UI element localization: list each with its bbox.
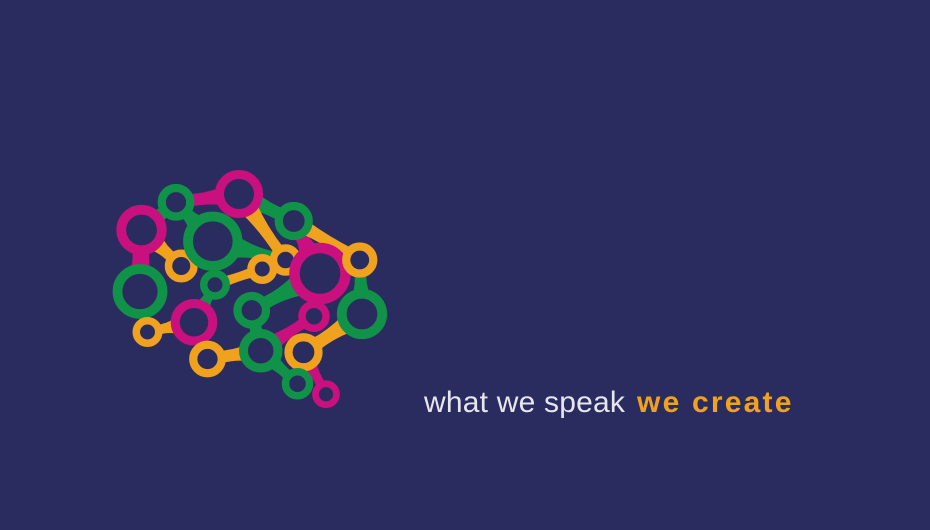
logo-node: [279, 206, 309, 236]
logo-node: [302, 304, 326, 328]
logo-node: [251, 258, 274, 281]
tagline: what we speak we create: [424, 386, 794, 428]
tagline-light-text: what we speak: [424, 386, 625, 420]
logo-node: [162, 188, 191, 217]
logo-nodes-group: [118, 175, 383, 405]
logo-node: [342, 294, 383, 335]
logo-node: [244, 334, 279, 369]
tagline-bold-text: we create: [637, 386, 794, 420]
logo-node: [118, 269, 163, 314]
logo-node: [121, 210, 162, 251]
logo-node: [289, 337, 319, 367]
brain-network-svg: [55, 95, 435, 425]
logo-node: [295, 248, 346, 299]
logo-node: [193, 345, 222, 374]
logo-node: [238, 296, 267, 325]
logo-node: [220, 175, 259, 214]
logo-node: [346, 247, 373, 274]
logo-node: [188, 217, 238, 267]
brain-network-logo: [55, 95, 435, 425]
logo-node: [286, 372, 310, 396]
logo-node: [204, 274, 227, 297]
logo-node: [175, 304, 213, 342]
logo-node: [316, 384, 337, 405]
logo-canvas: what we speak we create: [0, 0, 930, 530]
logo-node: [136, 321, 159, 344]
